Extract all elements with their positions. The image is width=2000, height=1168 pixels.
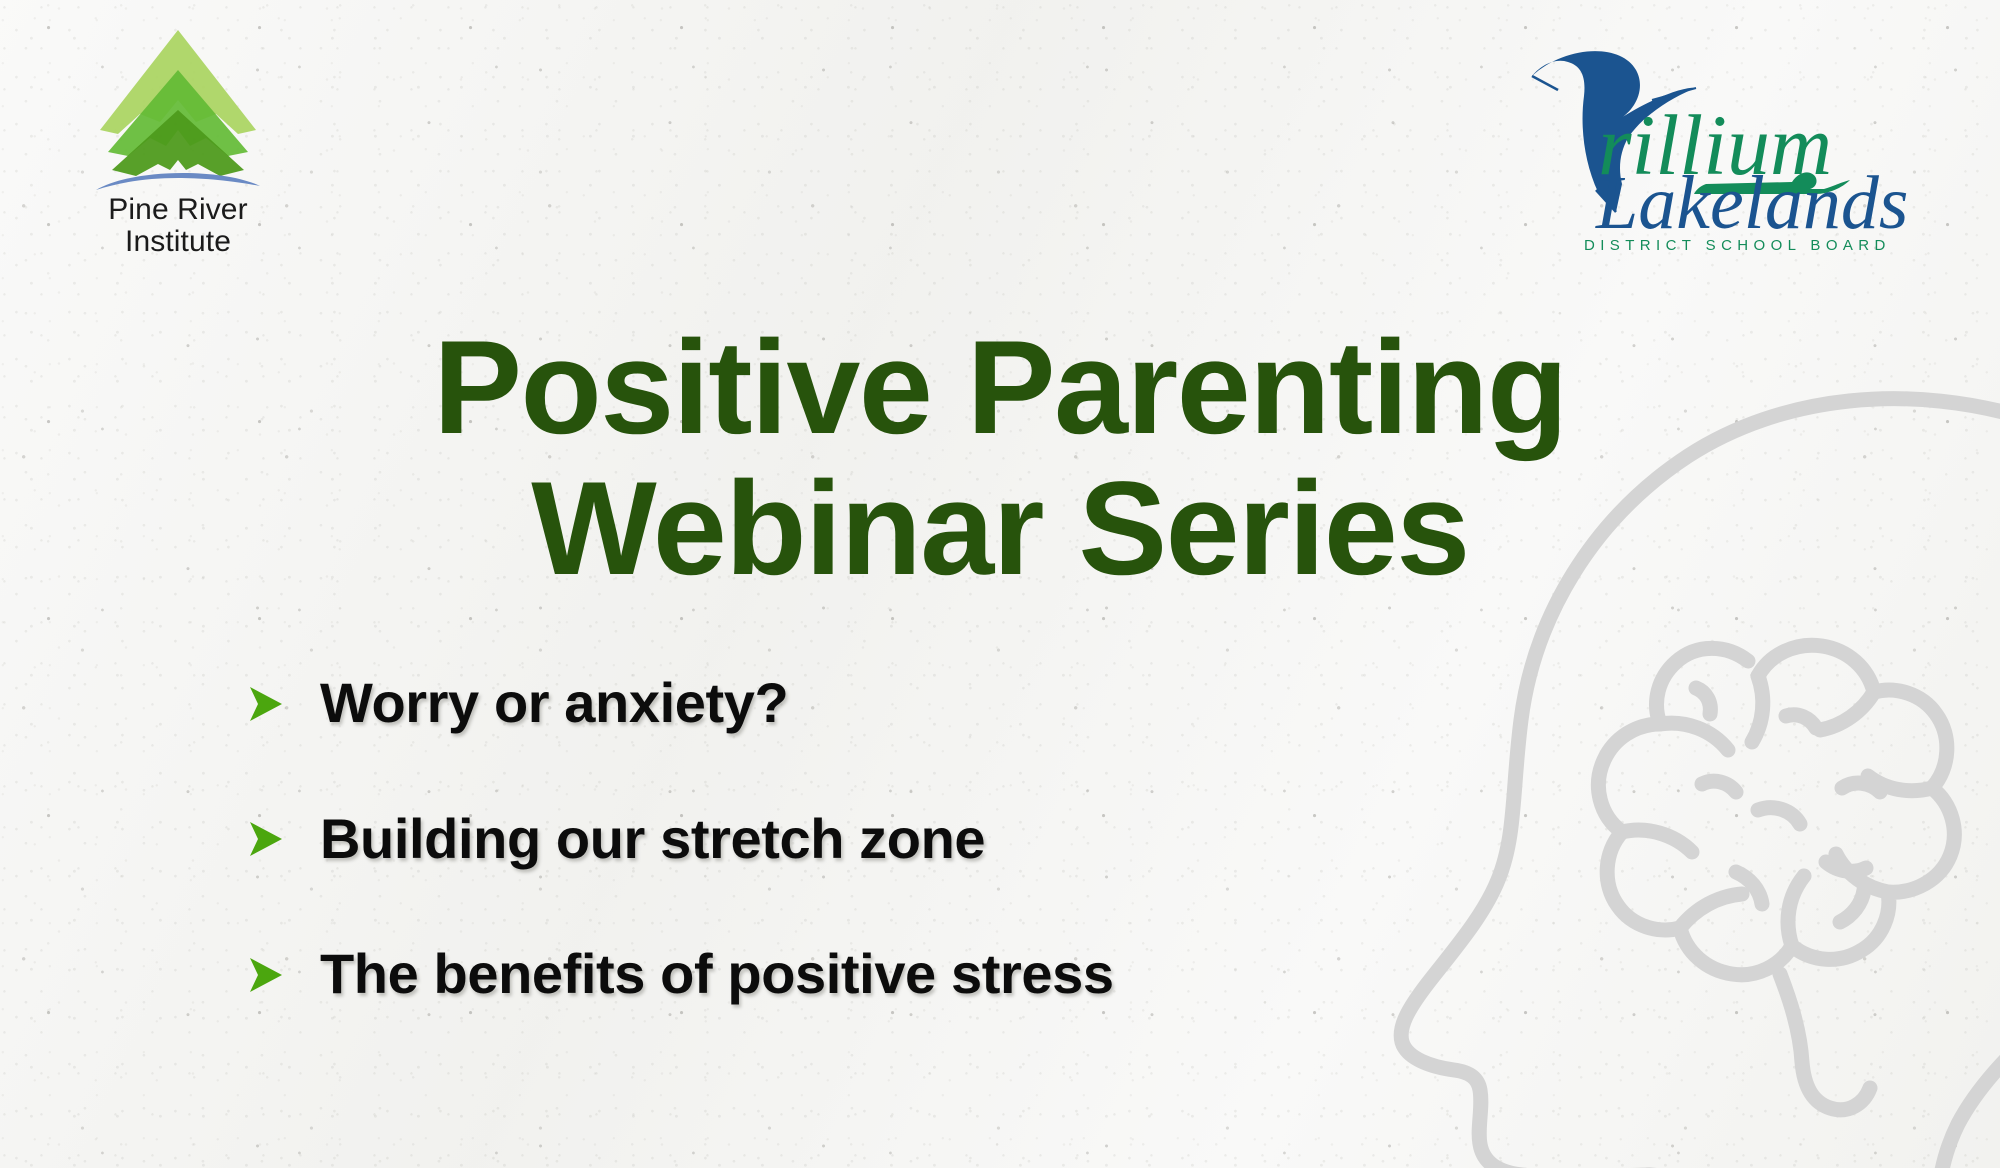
list-item-label: The benefits of positive stress [320,943,1114,1005]
topic-bullet-list: Worry or anxiety? Building our stretch z… [240,672,1440,1005]
pri-name-line-1: Pine River [62,194,294,226]
title-line-2: Webinar Series [190,459,1810,600]
list-item: Building our stretch zone [240,808,1440,870]
trillium-lakelands-dsb-logo: rillium Lakelands DISTRICT SCHOOL BOARD [1524,34,1944,254]
pine-river-institute-name: Pine River Institute [62,194,294,259]
list-item-label: Worry or anxiety? [320,672,788,734]
chevron-right-icon [240,679,290,729]
chevron-right-icon [240,814,290,864]
pri-name-line-2: Institute [62,226,294,258]
slide-title: Positive Parenting Webinar Series [0,318,2000,600]
chevron-right-icon [240,950,290,1000]
title-line-1: Positive Parenting [190,318,1810,459]
list-item-label: Building our stretch zone [320,808,985,870]
pine-river-institute-logo: Pine River Institute [62,18,294,259]
presentation-slide: Pine River Institute rillium Lakelands D… [0,0,2000,1168]
list-item: The benefits of positive stress [240,943,1440,1005]
list-item: Worry or anxiety? [240,672,1440,734]
trillium-word-lakelands: Lakelands [1595,161,1908,245]
trillium-tagline: DISTRICT SCHOOL BOARD [1584,237,1891,254]
pine-tree-icon [78,18,278,198]
